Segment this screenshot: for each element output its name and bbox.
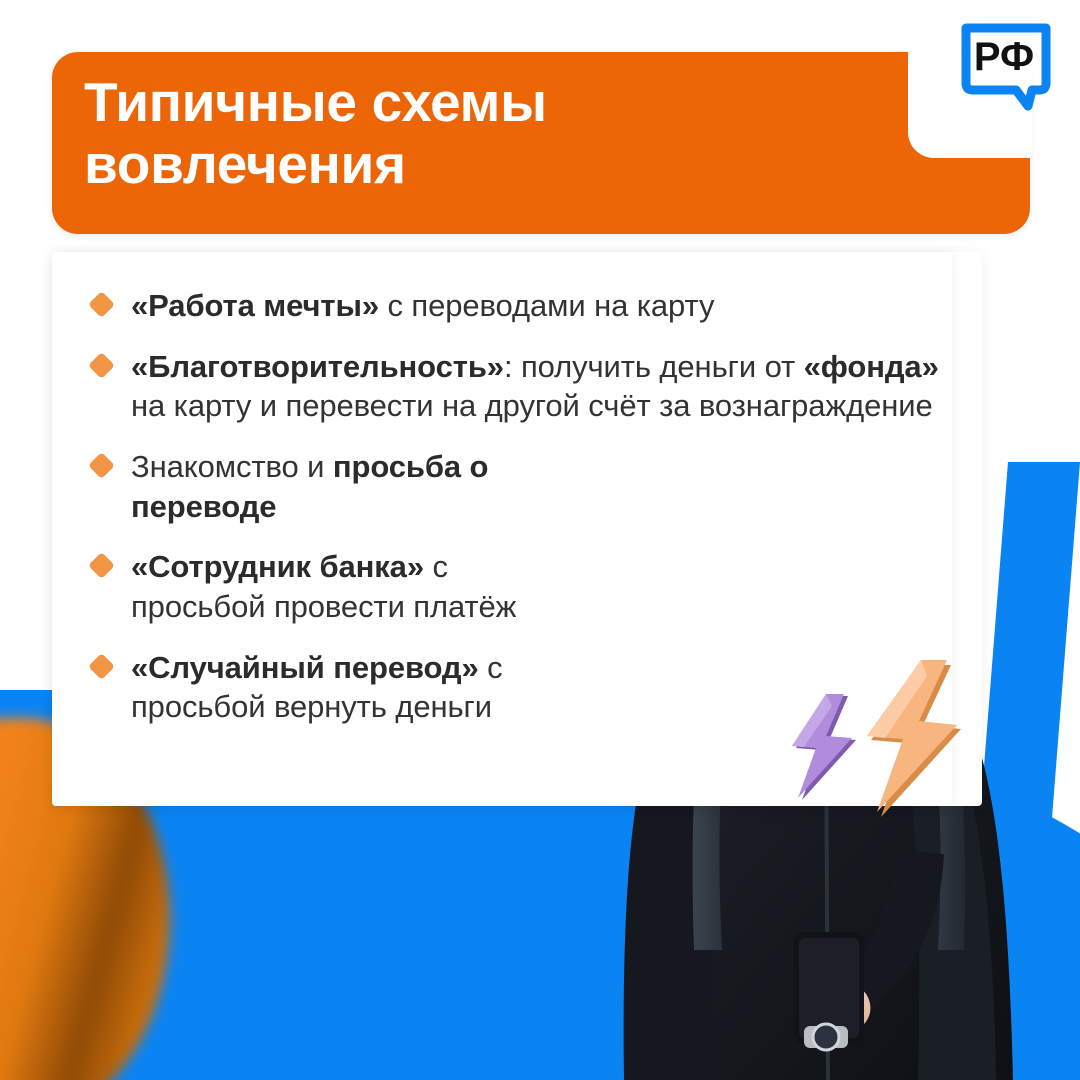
list-item-text: «Сотрудник банка» с просьбой провести пл… <box>131 547 561 626</box>
list-item: «Благотворительность»: получить деньги о… <box>92 347 942 426</box>
infographic-canvas: Типичные схемы вовлечения РФ «Работа меч… <box>0 0 1080 1080</box>
lightning-bolt-orange-icon <box>857 660 975 820</box>
page-title: Типичные схемы вовлечения <box>84 72 904 195</box>
header-banner: Типичные схемы вовлечения <box>52 52 1030 234</box>
diamond-bullet-icon <box>88 552 115 579</box>
list-item-text: «Благотворительность»: получить деньги о… <box>131 347 942 426</box>
rf-speech-bubble-logo[interactable]: РФ <box>950 10 1062 122</box>
diamond-bullet-icon <box>88 291 115 318</box>
list-item-text: «Случайный перевод» с просьбой вернуть д… <box>131 648 601 727</box>
logo-text: РФ <box>974 35 1034 79</box>
list-item: «Работа мечты» с переводами на карту <box>92 286 942 326</box>
scheme-list: «Работа мечты» с переводами на карту «Бл… <box>92 286 942 727</box>
list-item: «Сотрудник банка» с просьбой провести пл… <box>92 547 942 626</box>
diamond-bullet-icon <box>88 653 115 680</box>
diamond-bullet-icon <box>88 352 115 379</box>
diamond-bullet-icon <box>88 452 115 479</box>
list-item-text: «Работа мечты» с переводами на карту <box>131 286 942 326</box>
list-item: Знакомство и просьба о переводе <box>92 447 942 526</box>
list-item-text: Знакомство и просьба о переводе <box>131 447 601 526</box>
lightning-bolt-purple-icon <box>786 694 866 802</box>
